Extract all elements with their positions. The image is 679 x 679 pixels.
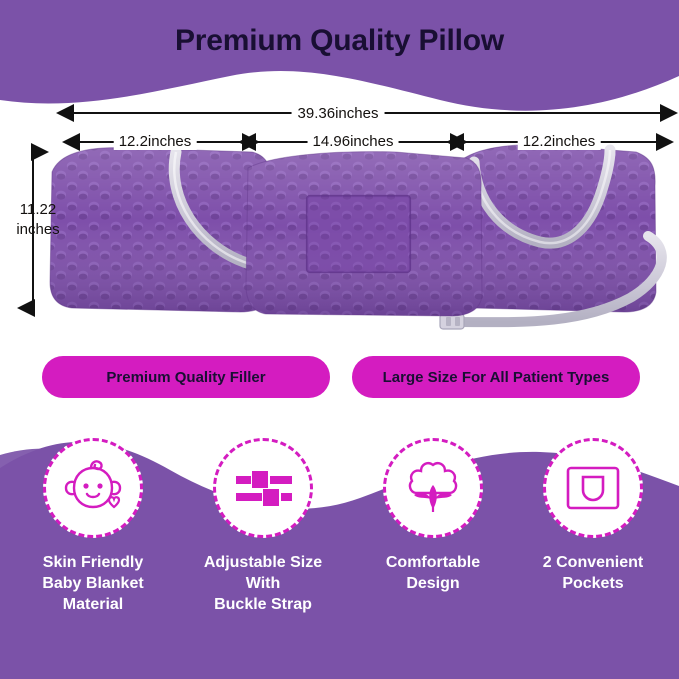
badge-large-size: Large Size For All Patient Types	[352, 356, 640, 398]
baby-face-icon	[60, 455, 126, 521]
dimension-label-total: 39.36inches	[292, 105, 385, 122]
feature-caption: 2 Convenient Pockets	[508, 552, 678, 594]
sliders-icon	[230, 455, 296, 521]
feature-icon-circle	[213, 438, 313, 538]
feature-skin-friendly: Skin Friendly Baby Blanket Material	[8, 438, 178, 615]
dimension-label-left: 12.2inches	[114, 133, 197, 150]
feature-caption: Skin Friendly Baby Blanket Material	[8, 552, 178, 615]
dimension-height-value: 11.22	[8, 200, 68, 220]
feature-icon-circle	[543, 438, 643, 538]
feature-adjustable-size: Adjustable Size With Buckle Strap	[178, 438, 348, 615]
cotton-flower-icon	[400, 455, 466, 521]
feature-convenient-pockets: 2 Convenient Pockets	[508, 438, 678, 594]
badge-row: Premium Quality Filler Large Size For Al…	[0, 356, 679, 400]
feature-caption: Comfortable Design	[348, 552, 518, 594]
badge-premium-quality-filler: Premium Quality Filler	[42, 356, 330, 398]
feature-icon-circle	[383, 438, 483, 538]
feature-icon-circle	[43, 438, 143, 538]
feature-comfortable-design: Comfortable Design	[348, 438, 518, 594]
feature-caption: Adjustable Size With Buckle Strap	[178, 552, 348, 615]
dimension-label-middle: 14.96inches	[308, 133, 399, 150]
dimension-label-height: 11.22 inches	[8, 200, 68, 240]
infographic-canvas: Premium Quality Pillow	[0, 0, 679, 679]
pocket-icon	[560, 455, 626, 521]
dimension-height-unit: inches	[8, 220, 68, 240]
dimension-label-right: 12.2inches	[518, 133, 601, 150]
